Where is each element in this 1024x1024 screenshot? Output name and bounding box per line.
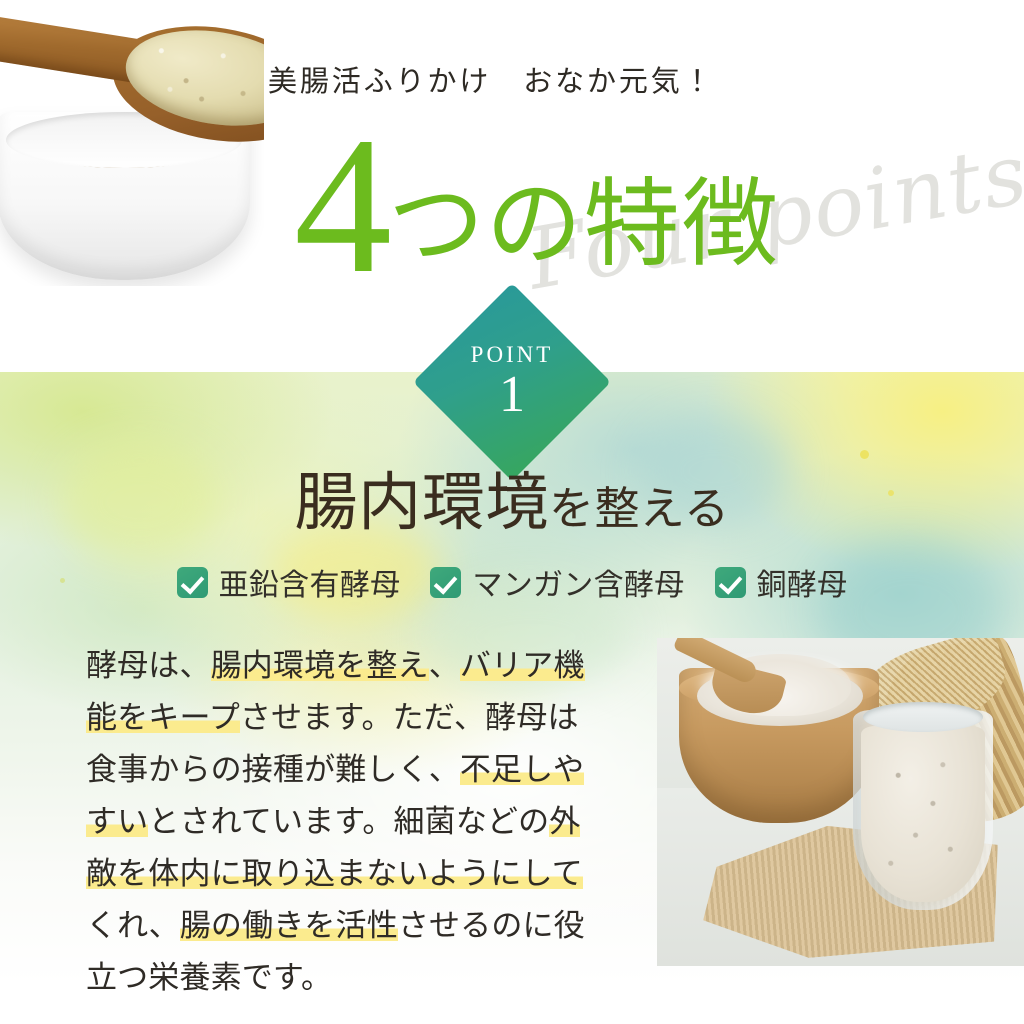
body-paragraph: 酵母は、腸内環境を整え、バリア機 能をキープさせます。ただ、酵母は 食事からの接… [86, 640, 631, 1004]
text-highlight: バリア機 [460, 648, 585, 683]
checklist-item-label: マンガン含酵母 [472, 560, 684, 604]
text-plain: させるのに役 [398, 908, 585, 943]
furikake-bowl-photo [0, 0, 264, 286]
badge-text: POINT 1 [442, 312, 582, 452]
text-plain: 立つ栄養素です。 [86, 960, 332, 995]
check-icon [715, 567, 746, 598]
title-number: 4 [294, 97, 388, 314]
paragraph-line: くれ、腸の働きを活性させるのに役 [86, 900, 631, 952]
check-icon [177, 567, 208, 598]
badge-number: 1 [499, 369, 525, 421]
text-plain: させます。ただ、酵母は [240, 700, 579, 735]
kicker-text: 美腸活ふりかけ おなか元気！ [268, 58, 788, 100]
section-heading-main: 腸内環境 [295, 468, 550, 538]
paragraph-line: 立つ栄養素です。 [86, 952, 631, 1004]
ingredient-checklist: 亜鉛含有酵母 マンガン含酵母 銅酵母 [0, 560, 1024, 604]
checklist-item-label: 銅酵母 [757, 560, 848, 604]
text-plain: 酵母は、 [86, 648, 211, 683]
glass-jar-neck [863, 702, 983, 732]
text-plain: くれ、 [86, 908, 180, 943]
checklist-item-label: 亜鉛含有酵母 [219, 560, 401, 604]
badge-label: POINT [471, 343, 554, 366]
text-plain: 、 [429, 648, 460, 683]
text-highlight: 能をキープ [86, 700, 240, 735]
point-badge: POINT 1 [442, 312, 582, 452]
text-plain: 食事からの接種が難しく、 [86, 752, 460, 787]
text-highlight: 敵を体内に取り込まないようにして [86, 856, 583, 891]
list-item: 銅酵母 [715, 560, 848, 604]
text-highlight: すい [86, 804, 148, 839]
check-icon [430, 567, 461, 598]
text-plain: とされています。細菌などの [148, 804, 549, 839]
text-highlight: 不足しや [460, 752, 584, 787]
paragraph-line: すいとされています。細菌などの外 [86, 796, 631, 848]
paragraph-line: 能をキープさせます。ただ、酵母は [86, 692, 631, 744]
paragraph-line: 酵母は、腸内環境を整え、バリア機 [86, 640, 631, 692]
paragraph-line: 食事からの接種が難しく、不足しや [86, 744, 631, 796]
section-heading-sub: を整える [549, 484, 729, 534]
title-japanese: つの特徴 [388, 171, 780, 278]
text-highlight: 外 [549, 804, 580, 839]
yeast-starter-contents [861, 726, 985, 902]
page-title: 4つの特徴 [294, 108, 814, 283]
product-feature-page: 美腸活ふりかけ おなか元気！ Four points 4つの特徴 POINT 1… [0, 0, 1024, 1024]
yeast-ingredients-photo [657, 638, 1024, 966]
list-item: マンガン含酵母 [430, 560, 684, 604]
section-heading: 腸内環境を整える [0, 452, 1024, 543]
paragraph-line: 敵を体内に取り込まないようにして [86, 848, 631, 900]
list-item: 亜鉛含有酵母 [177, 560, 401, 604]
text-highlight: 腸の働きを活性 [180, 908, 398, 943]
text-highlight: 腸内環境を整え [211, 648, 429, 683]
